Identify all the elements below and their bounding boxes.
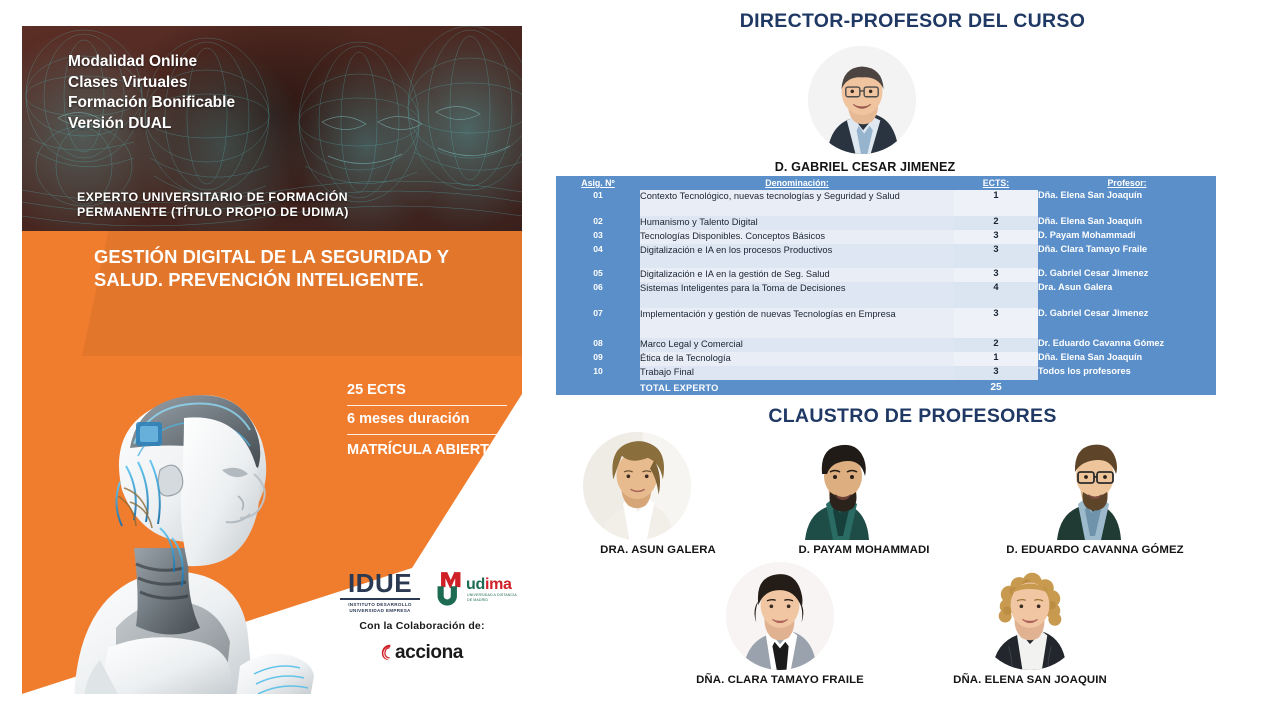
cell-num: 05 [556,268,640,282]
cell-denominacion: Digitalización e IA en la gestión de Seg… [640,268,954,282]
collaboration-label: Con la Colaboración de: [322,620,522,632]
cell-profesor: Dr. Eduardo Cavanna Gómez [1038,338,1216,352]
acciona-logo: acciona [322,642,522,664]
poster-title: GESTIÓN DIGITAL DE LA SEGURIDAD Y SALUD.… [94,245,464,291]
table-row: 05 Digitalización e IA en la gestión de … [556,268,1216,282]
cell-num: 02 [556,216,640,230]
poster-kicker-line-2: Clases Virtuales [68,73,368,94]
faculty-member-elena-san-joaquin: DÑA. ELENA SAN JOAQUIN [905,562,1155,692]
faculty-member-clara-tamayo: DÑA. CLARA TAMAYO FRAILE [655,562,905,692]
column-header-asignatura: Asig. Nº [556,176,640,190]
cell-denominacion: Implementación y gestión de nuevas Tecno… [640,308,954,338]
udima-logo: udima UNIVERSIDAD A DISTANCIA DE MADRID [434,568,522,608]
total-label: TOTAL EXPERTO [640,380,954,395]
table-row: 06 Sistemas Inteligentes para la Toma de… [556,282,1216,308]
idue-logo-subtitle-2: UNIVERSIDAD EMPRESA [340,608,420,614]
idue-logo-text: IDUE [340,570,420,596]
faculty-avatar-elena-san-joaquin [976,562,1084,670]
cell-profesor: Dra. Asun Galera [1038,282,1216,308]
faculty-section-heading: CLAUSTRO DE PROFESORES [545,405,1280,428]
cell-denominacion: Marco Legal y Comercial [640,338,954,352]
director-name: D. GABRIEL CESAR JIMENEZ [705,160,1025,174]
column-header-ects: ECTS: [954,176,1038,190]
course-poster: Modalidad Online Clases Virtuales Formac… [22,26,522,694]
cell-num: 10 [556,366,640,380]
poster-kicker-line-4: Versión DUAL [68,114,368,135]
cell-ects: 1 [954,352,1038,366]
column-header-profesor: Profesor: [1038,176,1216,190]
faculty-name: DRA. ASUN GALERA [563,544,753,556]
cell-profesor: Todos los profesores [1038,366,1216,380]
cell-ects: 3 [954,308,1038,338]
table-row: 07 Implementación y gestión de nuevas Te… [556,308,1216,338]
faculty-avatar-eduardo-cavanna [1049,432,1141,540]
cell-ects: 4 [954,282,1038,308]
table-row: 03 Tecnologías Disponibles. Conceptos Bá… [556,230,1216,244]
udima-logo-tagline: UNIVERSIDAD A DISTANCIA DE MADRID [467,593,517,602]
faculty-avatar-asun-galera [583,432,691,540]
cell-profesor: D. Payam Mohammadi [1038,230,1216,244]
asun-galera-portrait-image [583,432,691,540]
poster-orange-panel: GESTIÓN DIGITAL DE LA SEGURIDAD Y SALUD.… [22,231,522,694]
elena-san-joaquin-portrait-image [976,562,1084,670]
faculty-name: DÑA. CLARA TAMAYO FRAILE [655,674,905,686]
idue-logo: IDUE INSTITUTO DESARROLLO UNIVERSIDAD EM… [340,570,420,614]
total-row-blank [1038,380,1216,395]
table-row: 10 Trabajo Final 3 Todos los profesores [556,366,1216,380]
table-row: 09 Ética de la Tecnología 1 Dña. Elena S… [556,352,1216,366]
cell-denominacion: Contexto Tecnológico, nuevas tecnologías… [640,190,954,216]
table-row: 01 Contexto Tecnológico, nuevas tecnolog… [556,190,1216,216]
cell-denominacion: Sistemas Inteligentes para la Toma de De… [640,282,954,308]
poster-kicker-line-1: Modalidad Online [68,52,368,73]
idue-logo-rule [340,598,420,600]
cell-denominacion: Ética de la Tecnología [640,352,954,366]
faculty-member-eduardo-cavanna: D. EDUARDO CAVANNA GÓMEZ [985,432,1205,562]
cell-ects: 3 [954,366,1038,380]
cell-denominacion: Tecnologías Disponibles. Conceptos Básic… [640,230,954,244]
cell-profesor: Dña. Elena San Joaquín [1038,352,1216,366]
faculty-name: D. EDUARDO CAVANNA GÓMEZ [985,544,1205,556]
poster-kicker-line-3: Formación Bonificable [68,93,368,114]
total-ects-value: 25 [954,380,1038,395]
poster-subtitle: EXPERTO UNIVERSITARIO DE FORMACIÓN PERMA… [77,190,437,220]
acciona-logo-text: acciona [395,642,463,663]
cell-num: 06 [556,282,640,308]
clara-tamayo-portrait-image [726,562,834,670]
eduardo-cavanna-portrait-image [1049,432,1141,540]
cell-ects: 2 [954,216,1038,230]
faculty-name: D. PAYAM MOHAMMADI [769,544,959,556]
cell-profesor: Dña. Elena San Joaquín [1038,190,1216,216]
poster-fact-duration: 6 meses duración [347,406,507,434]
director-portrait-image [808,46,916,154]
table-row: 08 Marco Legal y Comercial 2 Dr. Eduardo… [556,338,1216,352]
poster-fact-ects: 25 ECTS [347,377,507,405]
faculty-member-payam-mohammadi: D. PAYAM MOHAMMADI [769,432,959,562]
poster-facts: 25 ECTS 6 meses duración MATRÍCULA ABIER… [347,377,507,466]
cell-ects: 2 [954,338,1038,352]
cell-denominacion: Digitalización e IA en los procesos Prod… [640,244,954,268]
right-panel: DIRECTOR-PROFESOR DEL CURSO D. GABRIEL C… [545,0,1280,720]
cell-profesor: D. Gabriel Cesar Jimenez [1038,308,1216,338]
cell-ects: 3 [954,268,1038,282]
column-header-denominacion: Denominación: [640,176,954,190]
cell-denominacion: Trabajo Final [640,366,954,380]
director-section-heading: DIRECTOR-PROFESOR DEL CURSO [545,10,1280,33]
total-row-spacer [556,380,640,395]
cell-ects: 1 [954,190,1038,216]
acciona-mark-icon [381,644,395,661]
poster-logos: IDUE INSTITUTO DESARROLLO UNIVERSIDAD EM… [322,568,522,686]
cell-num: 09 [556,352,640,366]
course-subjects-table: Asig. Nº Denominación: ECTS: Profesor: 0… [556,176,1216,395]
table-header-row: Asig. Nº Denominación: ECTS: Profesor: [556,176,1216,190]
director-avatar [808,46,916,154]
cell-profesor: Dña. Elena San Joaquín [1038,216,1216,230]
faculty-name: DÑA. ELENA SAN JOAQUIN [905,674,1155,686]
cell-profesor: Dña. Clara Tamayo Fraile [1038,244,1216,268]
table-row: 02 Humanismo y Talento Digital 2 Dña. El… [556,216,1216,230]
cell-num: 07 [556,308,640,338]
table-row: 04 Digitalización e IA en los procesos P… [556,244,1216,268]
cell-num: 01 [556,190,640,216]
table-total-row: TOTAL EXPERTO 25 [556,380,1216,395]
cell-num: 08 [556,338,640,352]
cell-num: 03 [556,230,640,244]
payam-mohammadi-portrait-image [797,432,889,540]
faculty-member-asun-galera: DRA. ASUN GALERA [563,432,753,562]
cell-profesor: D. Gabriel Cesar Jimenez [1038,268,1216,282]
faculty-avatar-clara-tamayo [726,562,834,670]
cell-ects: 3 [954,244,1038,268]
faculty-avatar-payam-mohammadi [797,432,889,540]
udima-monogram-icon [434,570,464,606]
poster-header-image: Modalidad Online Clases Virtuales Formac… [22,26,522,231]
cell-num: 04 [556,244,640,268]
cell-ects: 3 [954,230,1038,244]
udima-logo-text: udima [466,576,512,594]
cell-denominacion: Humanismo y Talento Digital [640,216,954,230]
robot-android-image [64,378,314,694]
poster-kicker: Modalidad Online Clases Virtuales Formac… [68,52,368,134]
